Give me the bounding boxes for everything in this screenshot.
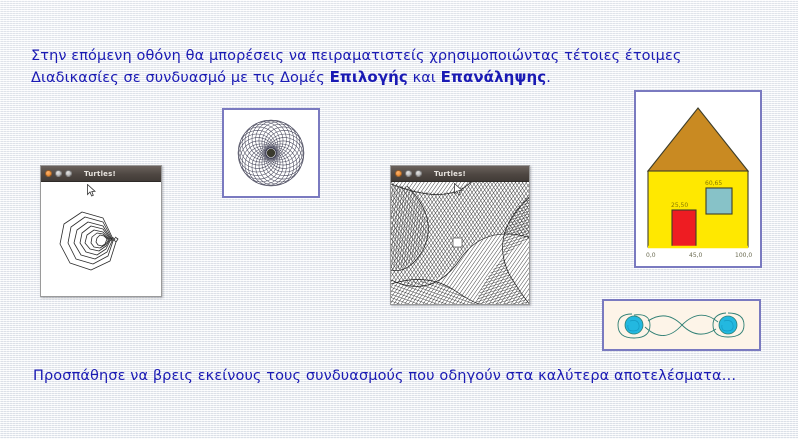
axis-label-end: 100,0: [735, 252, 752, 259]
axis-label-mid: 45,0: [689, 252, 703, 259]
top-text-conjunction: και: [408, 70, 441, 86]
axis-label-origin: 0,0: [646, 252, 656, 259]
infinity-right-blob: [713, 313, 744, 337]
turtle-marker: [453, 238, 462, 247]
house-door: [672, 210, 696, 247]
house-body: [648, 171, 748, 247]
nested-polygon-spiral-drawing: [41, 182, 161, 296]
spirograph-rose-drawing: [224, 110, 318, 196]
spirograph-picture: [222, 108, 320, 198]
window-titlebar[interactable]: Turtles!: [41, 166, 161, 182]
dense-moire-line-pattern-drawing: [391, 182, 529, 304]
turtle-canvas-1[interactable]: [41, 182, 161, 296]
house-door-label: 25,50: [671, 202, 688, 209]
slide-bottom-text: Προσπάθησε να βρεις εκείνους τους συνδυα…: [33, 366, 753, 387]
maximize-icon[interactable]: [415, 170, 422, 177]
top-text-period: .: [546, 70, 551, 86]
close-icon[interactable]: [45, 170, 52, 177]
slide-canvas: Στην επόμενη οθόνη θα μπορέσεις να πειρα…: [0, 0, 798, 439]
infinity-picture: [602, 299, 761, 351]
minimize-icon[interactable]: [55, 170, 62, 177]
spirograph-center: [267, 149, 275, 157]
turtle-canvas-2[interactable]: [391, 182, 529, 304]
window-title: Turtles!: [84, 170, 116, 178]
maximize-icon[interactable]: [65, 170, 72, 177]
window-title: Turtles!: [434, 170, 466, 178]
term-epilogis: Επιλογής: [330, 68, 408, 86]
term-epanalipsis: Επανάληψης: [441, 68, 547, 86]
slide-top-text: Στην επόμενη οθόνη θα μπορέσεις να πειρα…: [31, 25, 771, 89]
window-titlebar[interactable]: Turtles!: [391, 166, 529, 182]
infinity-left-blob: [618, 314, 650, 338]
house-window-label: 60,65: [705, 180, 722, 187]
close-icon[interactable]: [395, 170, 402, 177]
house-drawing: 60,65 25,50 0,0 45,0 100,0: [636, 92, 760, 266]
infinity-loop-drawing: [604, 301, 759, 349]
minimize-icon[interactable]: [405, 170, 412, 177]
house-picture: 60,65 25,50 0,0 45,0 100,0: [634, 90, 762, 268]
house-roof: [648, 108, 748, 171]
turtle-window-1[interactable]: Turtles!: [40, 165, 162, 297]
house-window: [706, 188, 732, 214]
turtle-window-2[interactable]: Turtles!: [390, 165, 530, 305]
